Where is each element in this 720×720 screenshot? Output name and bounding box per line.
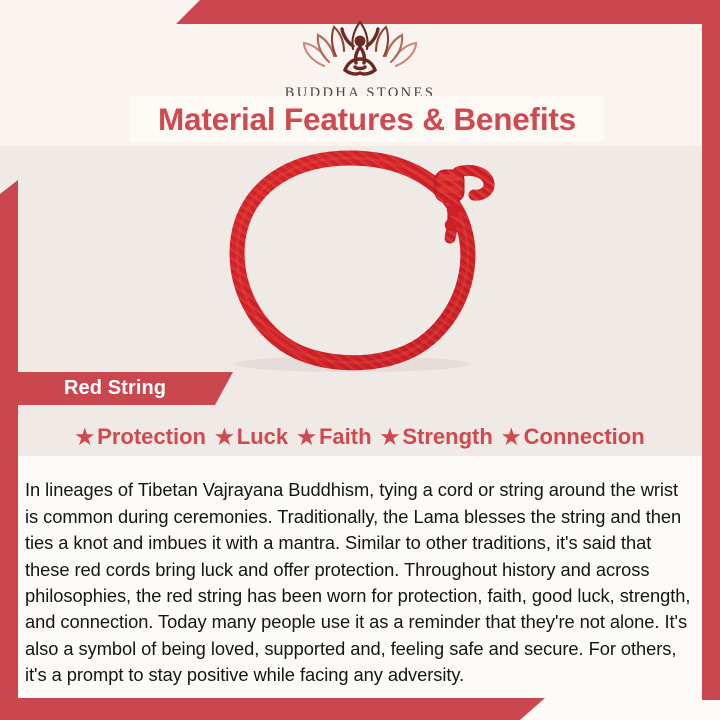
frame-bar-bottom — [0, 698, 580, 720]
feature-list: ★ Protection ★ Luck ★ Faith ★ Strength ★… — [24, 420, 696, 454]
star-icon: ★ — [297, 427, 316, 448]
star-icon: ★ — [215, 427, 234, 448]
feature-item-faith: ★ Faith — [297, 424, 371, 450]
page-title-banner: Material Features & Benefits — [130, 96, 604, 142]
infographic-page: BUDDHA STONES Material Features & Benefi… — [0, 0, 720, 720]
lotus-meditation-icon — [298, 16, 422, 80]
feature-label: Luck — [237, 424, 288, 450]
page-title: Material Features & Benefits — [158, 101, 576, 138]
feature-item-protection: ★ Protection — [75, 424, 206, 450]
frame-bar-left — [0, 180, 18, 720]
star-icon: ★ — [75, 427, 94, 448]
star-icon: ★ — [381, 427, 400, 448]
feature-item-luck: ★ Luck — [215, 424, 288, 450]
product-name: Red String — [64, 377, 166, 400]
feature-label: Protection — [97, 424, 206, 450]
brand-logo: BUDDHA STONES — [0, 16, 720, 101]
product-name-ribbon: Red String — [18, 372, 233, 405]
product-image — [200, 150, 530, 376]
feature-item-connection: ★ Connection — [502, 424, 645, 450]
feature-item-strength: ★ Strength — [381, 424, 493, 450]
feature-label: Strength — [402, 424, 492, 450]
description-paragraph: In lineages of Tibetan Vajrayana Buddhis… — [25, 477, 693, 688]
star-icon: ★ — [502, 427, 521, 448]
feature-label: Connection — [524, 424, 645, 450]
feature-label: Faith — [319, 424, 372, 450]
frame-bar-right — [702, 0, 720, 700]
